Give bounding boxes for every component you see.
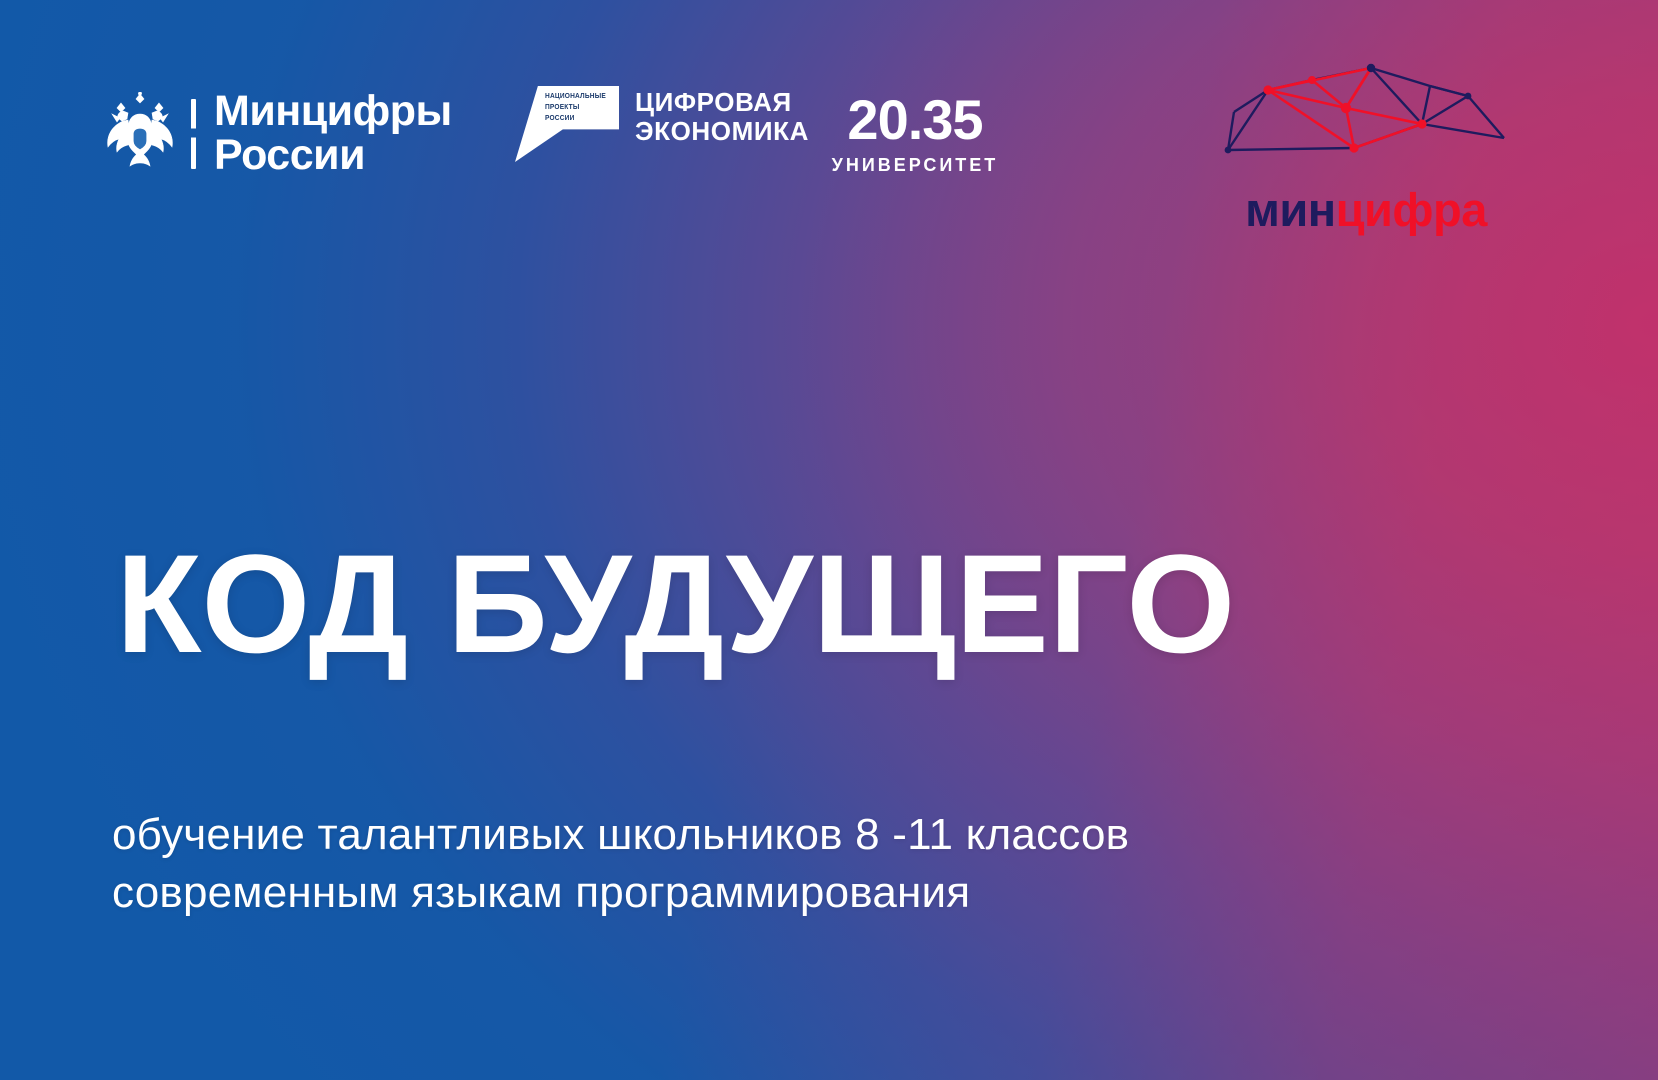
poster-content: Минцифры России НАЦИОНАЛЬНЫЕ ПРОЕКТЫ РОС… (0, 0, 1658, 1080)
network-mesh-icon (1216, 52, 1516, 182)
digital-economy-line-2: ЭКОНОМИКА (635, 117, 809, 146)
subtitle-line-2: современным языкам программирования (112, 864, 1129, 922)
university-subtitle: УНИВЕРСИТЕТ (820, 155, 1010, 176)
subtitle-line-1: обучение талантливых школьников 8 -11 кл… (112, 806, 1129, 864)
badge-line-1: НАЦИОНАЛЬНЫЕ (545, 93, 607, 101)
digital-economy-line-1: ЦИФРОВАЯ (635, 88, 809, 117)
national-projects-flag-icon: НАЦИОНАЛЬНЫЕ ПРОЕКТЫ РОССИИ (515, 86, 619, 162)
ministry-line-1: Минцифры (214, 90, 452, 134)
ministry-divider (191, 99, 196, 169)
university-number: 20.35 (820, 92, 1010, 148)
digital-economy-logo: НАЦИОНАЛЬНЫЕ ПРОЕКТЫ РОССИИ ЦИФРОВАЯ ЭКО… (515, 86, 809, 186)
badge-line-3: РОССИИ (545, 115, 607, 123)
badge-line-2: ПРОЕКТЫ (545, 104, 607, 112)
double-headed-eagle-icon (103, 92, 177, 176)
national-projects-badge-text: НАЦИОНАЛЬНЫЕ ПРОЕКТЫ РОССИИ (545, 93, 611, 123)
university-2035-logo: 20.35 УНИВЕРСИТЕТ (820, 92, 1010, 176)
mincifra-logo: минцифра (1216, 52, 1516, 233)
page-title: КОД БУДУЩЕГО (116, 534, 1235, 674)
page-subtitle: обучение талантливых школьников 8 -11 кл… (112, 806, 1129, 922)
poster-root: Минцифры России НАЦИОНАЛЬНЫЕ ПРОЕКТЫ РОС… (0, 0, 1658, 1080)
digital-economy-wordmark: ЦИФРОВАЯ ЭКОНОМИКА (635, 86, 809, 146)
ministry-line-2: России (214, 134, 452, 178)
logo-bar: Минцифры России НАЦИОНАЛЬНЫЕ ПРОЕКТЫ РОС… (0, 0, 1658, 250)
ministry-logo: Минцифры России (103, 88, 452, 180)
mincifra-wordmark: минцифра (1216, 186, 1516, 233)
mincifra-word-dark: мин (1245, 183, 1336, 236)
ministry-wordmark: Минцифры России (214, 90, 452, 178)
mincifra-word-red: цифра (1336, 183, 1487, 236)
